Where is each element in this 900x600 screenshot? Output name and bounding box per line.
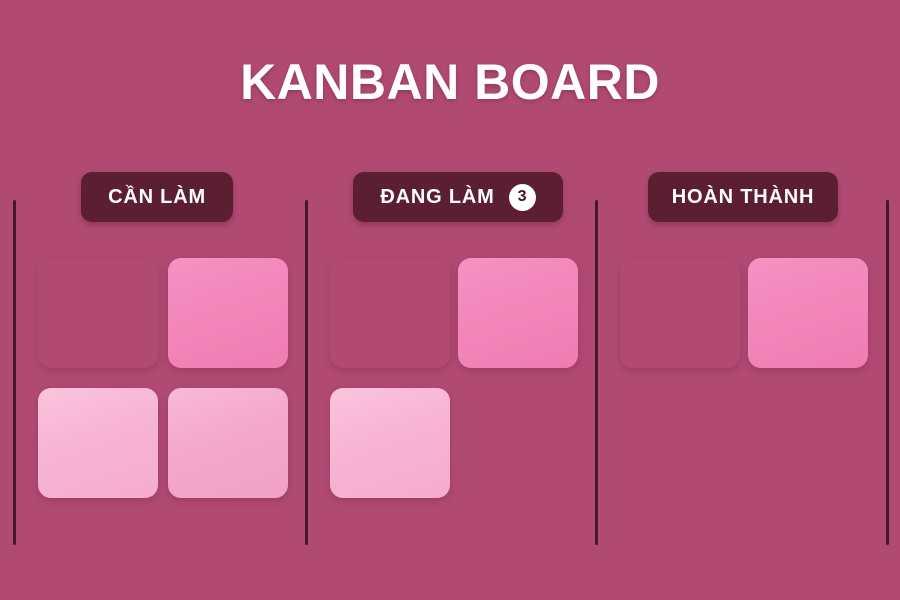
status-badge: 3	[509, 184, 536, 211]
column-divider-2	[305, 200, 308, 545]
card[interactable]	[748, 258, 868, 368]
column-title-in-progress: ĐANG LÀM	[380, 186, 494, 209]
card[interactable]	[330, 258, 450, 368]
card[interactable]	[38, 388, 158, 498]
card[interactable]	[168, 258, 288, 368]
column-divider-1	[13, 200, 16, 545]
column-title-todo: CẦN LÀM	[108, 186, 206, 209]
card[interactable]	[38, 258, 158, 368]
column-header-in-progress[interactable]: ĐANG LÀM 3	[353, 172, 563, 222]
column-header-todo[interactable]: CẦN LÀM	[81, 172, 233, 222]
column-header-done[interactable]: HOÀN THÀNH	[648, 172, 838, 222]
page-title: KANBAN BOARD	[0, 52, 900, 112]
column-divider-3	[595, 200, 598, 545]
card[interactable]	[330, 388, 450, 498]
column-title-done: HOÀN THÀNH	[672, 186, 814, 209]
card[interactable]	[620, 258, 740, 368]
column-divider-4	[886, 200, 889, 545]
card[interactable]	[458, 258, 578, 368]
kanban-board: KANBAN BOARD CẦN LÀM ĐANG LÀM 3 HOÀN THÀ…	[0, 0, 900, 600]
card[interactable]	[168, 388, 288, 498]
